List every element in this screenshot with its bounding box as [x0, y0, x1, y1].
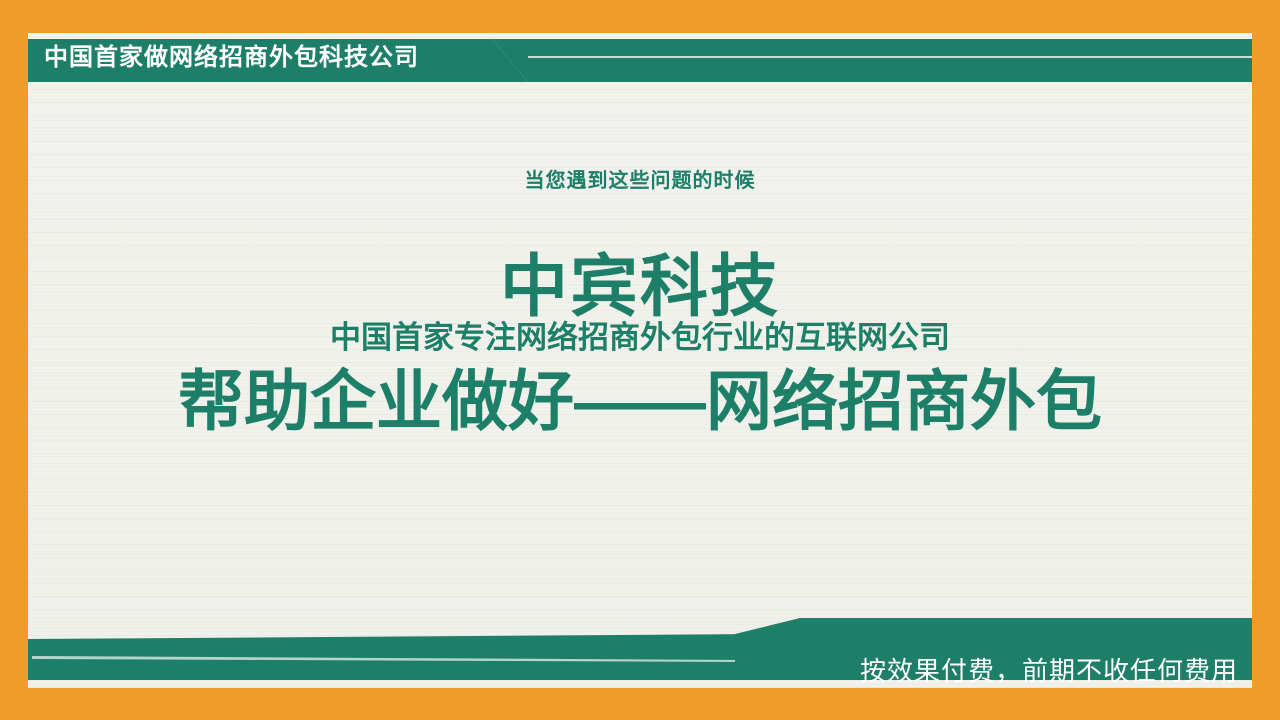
brand-name: 中宾科技 [28, 248, 1252, 326]
slide-content: 当您遇到这些问题的时候 中宾科技 中国首家专注网络招商外包行业的互联网公司 帮助… [28, 33, 1252, 688]
eyebrow-text: 当您遇到这些问题的时候 [28, 168, 1252, 194]
main-headline: 帮助企业做好——网络招商外包 [28, 360, 1252, 442]
brand-subtitle: 中国首家专注网络招商外包行业的互联网公司 [28, 318, 1252, 358]
presentation-slide: 中国首家做网络招商外包科技公司 当您遇到这些问题的时候 中宾科技 中国首家专注网… [0, 0, 1280, 720]
